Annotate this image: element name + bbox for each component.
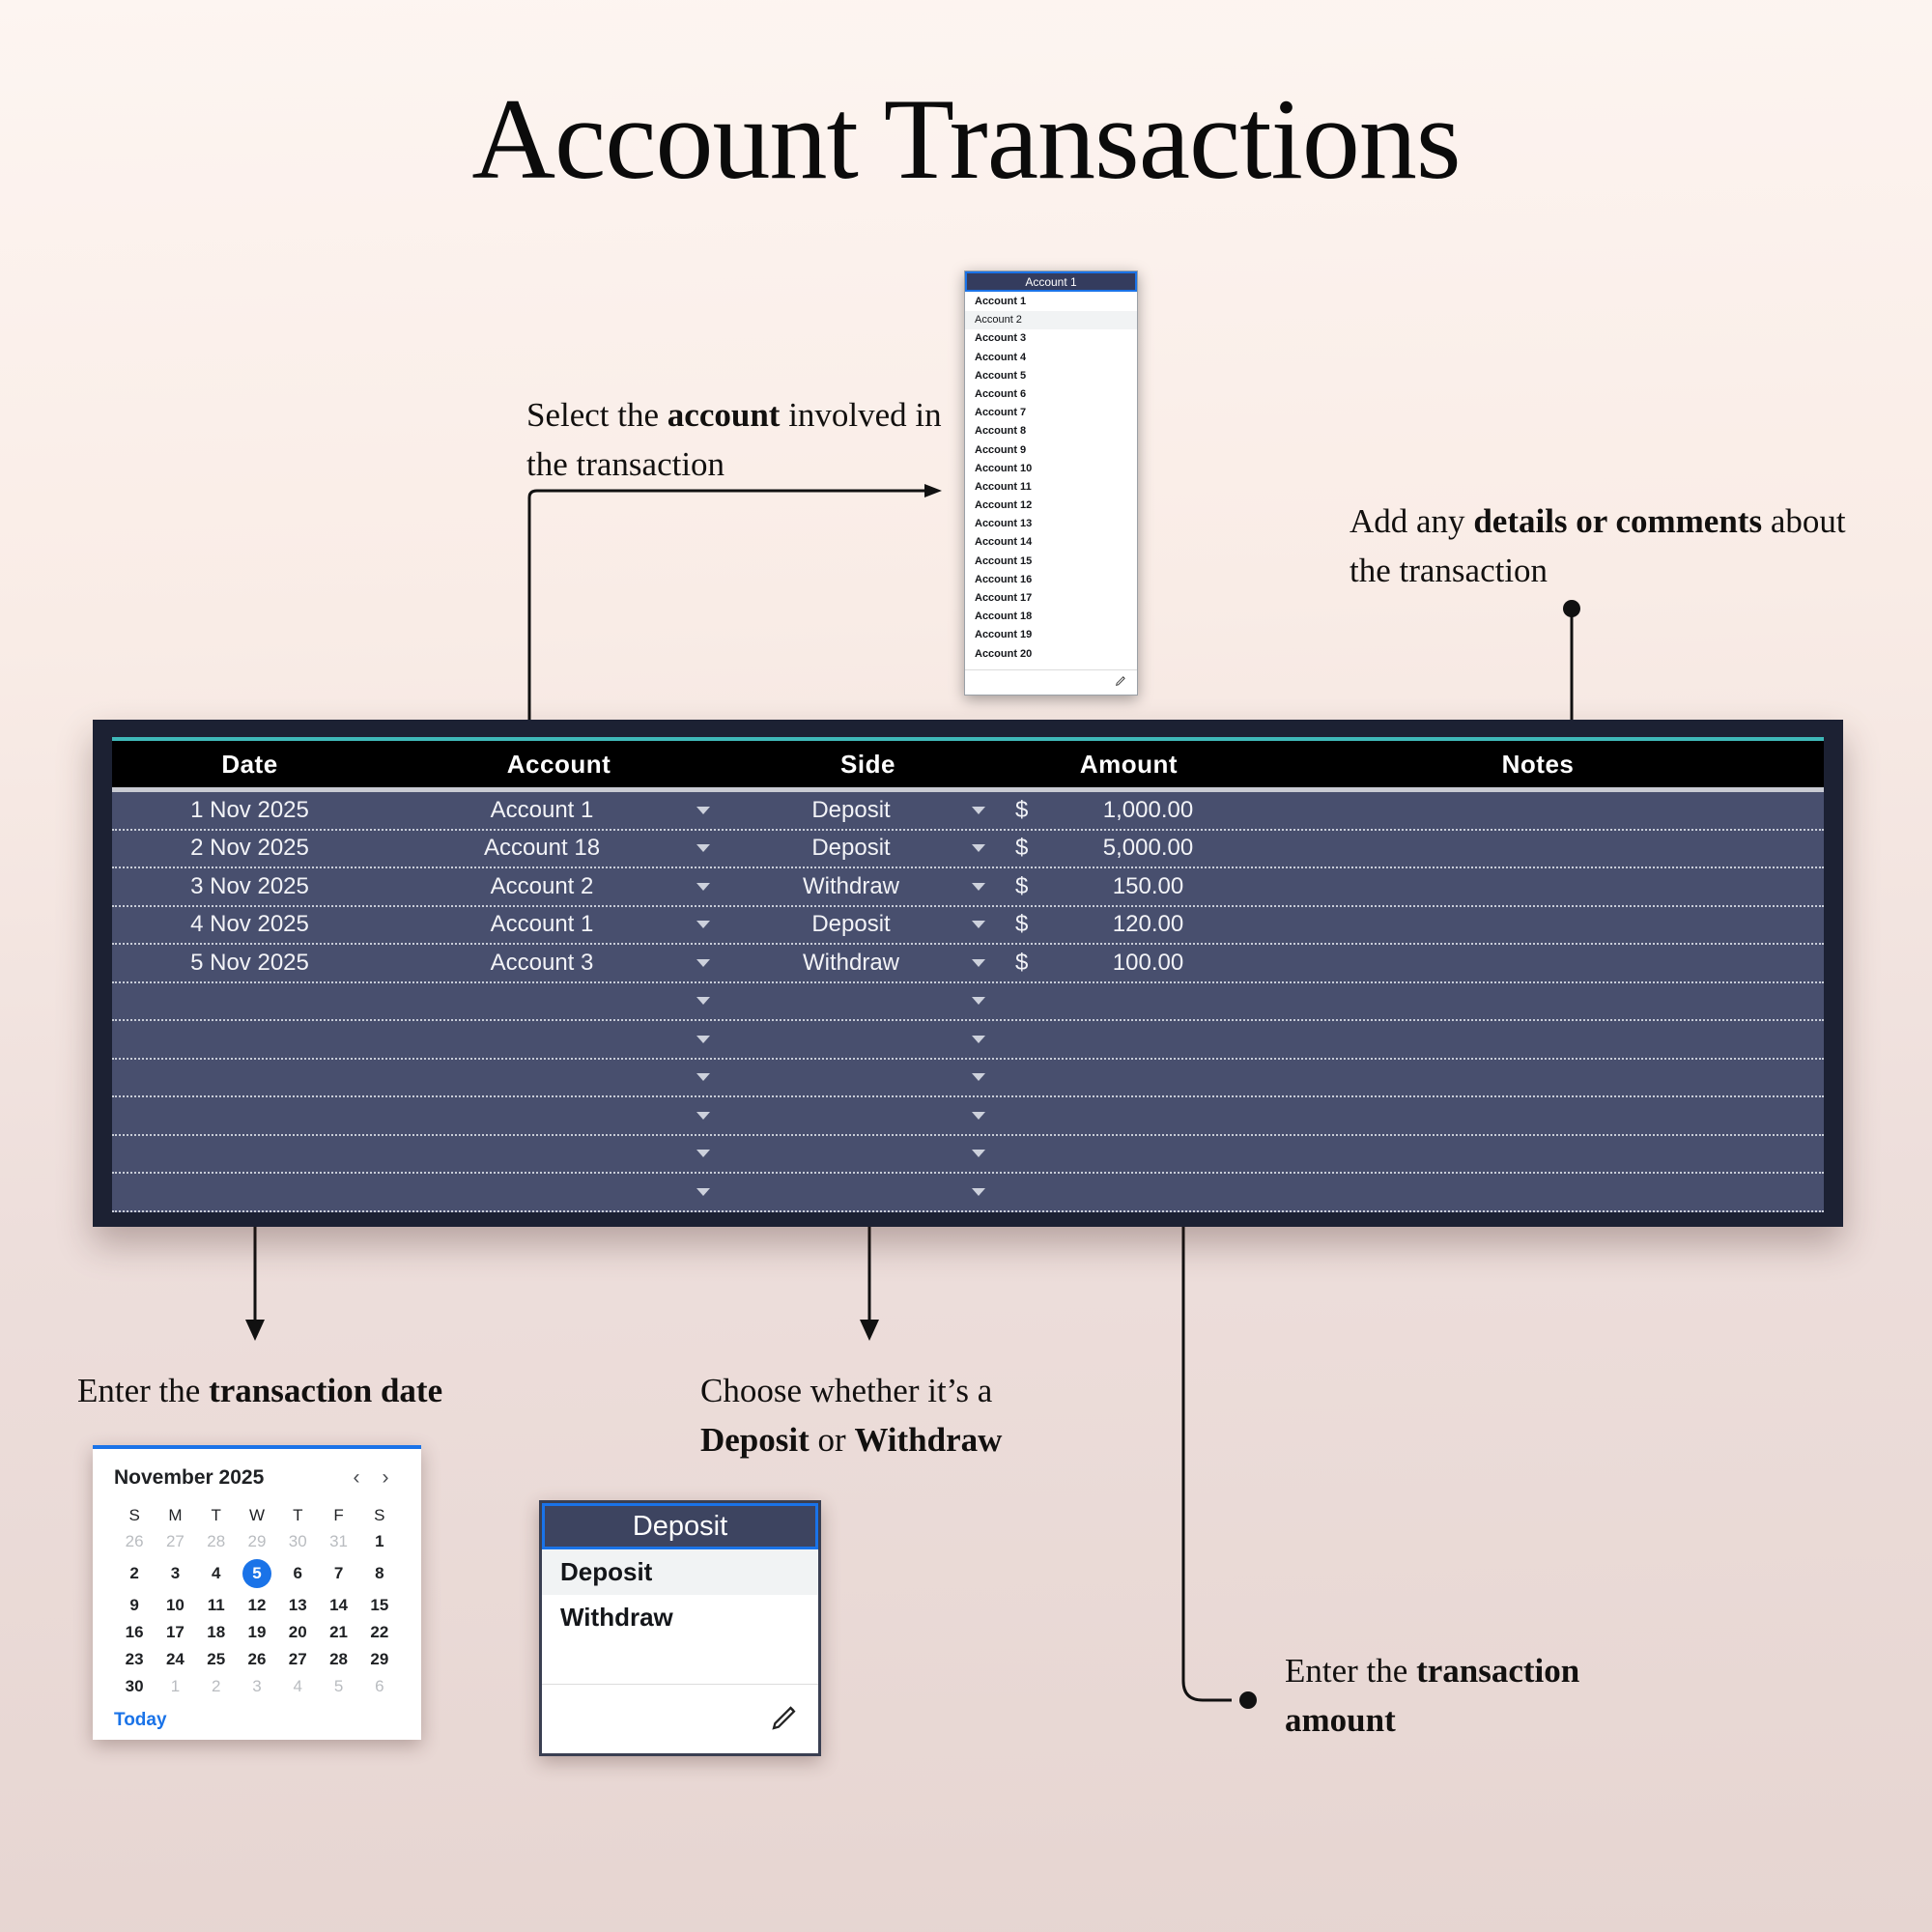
pencil-icon[interactable] xyxy=(770,1701,801,1737)
side-dropdown-button[interactable] xyxy=(972,792,1006,829)
calendar-day[interactable]: 5 xyxy=(318,1673,358,1700)
chevron-down-icon[interactable] xyxy=(696,1112,710,1120)
cell-notes[interactable] xyxy=(1252,1136,1824,1173)
cell-date[interactable] xyxy=(112,1021,387,1058)
annotation-date-bold: transaction date xyxy=(209,1372,442,1409)
calendar-day[interactable]: 27 xyxy=(155,1528,195,1555)
pencil-icon[interactable] xyxy=(1115,674,1127,692)
cell-account[interactable]: Account 1 xyxy=(387,792,696,829)
annotation-amount: Enter the transaction amount xyxy=(1285,1647,1671,1746)
calendar-week-row: 23242526272829 xyxy=(114,1646,400,1673)
annotation-side-bold: Deposit xyxy=(700,1421,810,1459)
account-dropdown-button[interactable] xyxy=(696,1060,730,1096)
side-dropdown-button[interactable] xyxy=(972,1136,1006,1173)
calendar-week-row: 9101112131415 xyxy=(114,1592,400,1619)
account-option[interactable]: Account 5 xyxy=(965,367,1137,385)
cell-amount[interactable] xyxy=(1044,1174,1252,1210)
annotation-side-mid: or xyxy=(810,1421,855,1459)
cell-amount[interactable] xyxy=(1044,1097,1252,1134)
cell-currency: $ xyxy=(1006,907,1044,944)
table-row[interactable] xyxy=(112,983,1824,1022)
calendar-header: November 2025 ‹ › xyxy=(114,1466,400,1490)
calendar-weekday: T xyxy=(196,1503,237,1528)
cell-account[interactable] xyxy=(387,1174,696,1210)
table-body[interactable]: 1 Nov 2025Account 1Deposit$1,000.002 Nov… xyxy=(112,792,1824,1212)
account-dropdown-button[interactable] xyxy=(696,792,730,829)
account-dropdown-button[interactable] xyxy=(696,1097,730,1134)
chevron-down-icon[interactable] xyxy=(972,959,985,967)
cell-side[interactable] xyxy=(730,1021,972,1058)
cell-side[interactable] xyxy=(730,983,972,1020)
cell-side[interactable]: Deposit xyxy=(730,831,972,867)
calendar-week-row: 16171819202122 xyxy=(114,1619,400,1646)
account-option[interactable]: Account 1 xyxy=(965,293,1137,311)
cell-account[interactable] xyxy=(387,1021,696,1058)
cell-currency xyxy=(1006,1021,1044,1058)
chevron-left-icon[interactable]: ‹ xyxy=(342,1466,371,1490)
chevron-down-icon[interactable] xyxy=(696,921,710,928)
account-option[interactable]: Account 4 xyxy=(965,349,1137,367)
calendar-week-row: 30123456 xyxy=(114,1673,400,1700)
calendar-day[interactable]: 1 xyxy=(155,1673,195,1700)
account-option[interactable]: Account 8 xyxy=(965,422,1137,440)
calendar-day[interactable]: 2 xyxy=(114,1555,155,1592)
annotation-side-bold2: Withdraw xyxy=(854,1421,1002,1459)
table-row[interactable] xyxy=(112,1097,1824,1136)
calendar-today-button[interactable]: Today xyxy=(114,1710,400,1731)
account-option[interactable]: Account 16 xyxy=(965,571,1137,589)
calendar-day[interactable]: 26 xyxy=(237,1646,277,1673)
calendar-day[interactable]: 27 xyxy=(277,1646,318,1673)
column-header-date: Date xyxy=(112,741,387,787)
column-header-amount: Amount xyxy=(1006,741,1252,787)
account-option[interactable]: Account 19 xyxy=(965,626,1137,644)
table-row[interactable]: 4 Nov 2025Account 1Deposit$120.00 xyxy=(112,907,1824,946)
table-row[interactable]: 3 Nov 2025Account 2Withdraw$150.00 xyxy=(112,868,1824,907)
calendar-day[interactable]: 25 xyxy=(196,1646,237,1673)
annotation-notes: Add any details or comments about the tr… xyxy=(1350,497,1852,596)
cell-date[interactable]: 2 Nov 2025 xyxy=(112,831,387,867)
annotation-account: Select the account involved in the trans… xyxy=(526,391,971,490)
date-picker-calendar[interactable]: November 2025 ‹ › SMTWTFS 26272829303112… xyxy=(93,1445,421,1740)
calendar-day[interactable]: 13 xyxy=(277,1592,318,1619)
calendar-day[interactable]: 6 xyxy=(277,1555,318,1592)
calendar-day[interactable]: 29 xyxy=(359,1646,400,1673)
account-dropdown-selected[interactable]: Account 1 xyxy=(965,271,1137,292)
account-dropdown-button[interactable] xyxy=(696,831,730,867)
account-option[interactable]: Account 17 xyxy=(965,589,1137,608)
calendar-day[interactable]: 21 xyxy=(318,1619,358,1646)
chevron-down-icon[interactable] xyxy=(696,1150,710,1157)
cell-side[interactable]: Withdraw xyxy=(730,868,972,905)
calendar-day[interactable]: 4 xyxy=(196,1555,237,1592)
account-option[interactable]: Account 6 xyxy=(965,385,1137,404)
side-dropdown-popup[interactable]: Deposit DepositWithdraw xyxy=(539,1500,821,1756)
cell-amount[interactable]: 120.00 xyxy=(1044,907,1252,944)
cell-notes[interactable] xyxy=(1252,1174,1824,1210)
calendar-day[interactable]: 28 xyxy=(196,1528,237,1555)
annotation-account-bold: account xyxy=(668,396,781,434)
transactions-spreadsheet[interactable]: DateAccountSideAmountNotes 1 Nov 2025Acc… xyxy=(93,720,1843,1227)
cell-currency xyxy=(1006,983,1044,1020)
account-option[interactable]: Account 3 xyxy=(965,329,1137,348)
calendar-day[interactable]: 30 xyxy=(114,1673,155,1700)
cell-date[interactable]: 4 Nov 2025 xyxy=(112,907,387,944)
calendar-weekday: M xyxy=(155,1503,195,1528)
cell-amount[interactable] xyxy=(1044,983,1252,1020)
cell-date[interactable] xyxy=(112,1097,387,1134)
cell-account[interactable]: Account 1 xyxy=(387,907,696,944)
column-header-notes: Notes xyxy=(1252,741,1824,787)
cell-currency: $ xyxy=(1006,945,1044,981)
cell-side[interactable] xyxy=(730,1097,972,1134)
cell-notes[interactable] xyxy=(1252,831,1824,867)
chevron-down-icon[interactable] xyxy=(972,883,985,891)
cell-date[interactable]: 1 Nov 2025 xyxy=(112,792,387,829)
cell-side[interactable] xyxy=(730,1060,972,1096)
side-dropdown-list[interactable]: DepositWithdraw xyxy=(542,1549,818,1640)
account-dropdown-button[interactable] xyxy=(696,868,730,905)
chevron-down-icon[interactable] xyxy=(696,807,710,814)
chevron-down-icon[interactable] xyxy=(972,807,985,814)
table-row[interactable]: 5 Nov 2025Account 3Withdraw$100.00 xyxy=(112,945,1824,983)
chevron-down-icon[interactable] xyxy=(972,1036,985,1043)
cell-account[interactable]: Account 18 xyxy=(387,831,696,867)
cell-notes[interactable] xyxy=(1252,868,1824,905)
cell-account[interactable]: Account 3 xyxy=(387,945,696,981)
annotation-date-pre: Enter the xyxy=(77,1372,209,1409)
cell-currency: $ xyxy=(1006,792,1044,829)
annotation-side-pre: Choose whether it’s a xyxy=(700,1372,992,1409)
account-dropdown-button[interactable] xyxy=(696,1174,730,1210)
cell-currency xyxy=(1006,1060,1044,1096)
chevron-down-icon[interactable] xyxy=(972,1073,985,1081)
cell-date[interactable] xyxy=(112,1060,387,1096)
calendar-day[interactable]: 26 xyxy=(114,1528,155,1555)
side-dropdown-button[interactable] xyxy=(972,983,1006,1020)
cell-currency: $ xyxy=(1006,868,1044,905)
side-option[interactable]: Withdraw xyxy=(542,1595,818,1640)
side-dropdown-footer xyxy=(542,1684,818,1753)
annotation-notes-bold: details or comments xyxy=(1473,502,1762,540)
cell-notes[interactable] xyxy=(1252,1060,1824,1096)
annotation-date: Enter the transaction date xyxy=(77,1367,580,1416)
table-row[interactable] xyxy=(112,1174,1824,1212)
chevron-down-icon[interactable] xyxy=(696,959,710,967)
side-dropdown-button[interactable] xyxy=(972,831,1006,867)
cell-amount[interactable]: 1,000.00 xyxy=(1044,792,1252,829)
cell-notes[interactable] xyxy=(1252,1097,1824,1134)
cell-side[interactable] xyxy=(730,1174,972,1210)
chevron-down-icon[interactable] xyxy=(972,921,985,928)
calendar-week-row: 2627282930311 xyxy=(114,1528,400,1555)
calendar-weekday: T xyxy=(277,1503,318,1528)
account-option[interactable]: Account 10 xyxy=(965,460,1137,478)
calendar-day[interactable]: 12 xyxy=(237,1592,277,1619)
calendar-day[interactable]: 10 xyxy=(155,1592,195,1619)
cell-side[interactable]: Withdraw xyxy=(730,945,972,981)
cell-account[interactable] xyxy=(387,1060,696,1096)
calendar-weekday: S xyxy=(359,1503,400,1528)
calendar-day-rows[interactable]: 2627282930311234567891011121314151617181… xyxy=(114,1528,400,1700)
calendar-day[interactable]: 3 xyxy=(155,1555,195,1592)
cell-date[interactable] xyxy=(112,1136,387,1173)
calendar-weekday: W xyxy=(237,1503,277,1528)
calendar-day[interactable]: 3 xyxy=(237,1673,277,1700)
chevron-down-icon[interactable] xyxy=(972,1112,985,1120)
cell-side[interactable]: Deposit xyxy=(730,792,972,829)
cell-notes[interactable] xyxy=(1252,1021,1824,1058)
calendar-day[interactable]: 17 xyxy=(155,1619,195,1646)
cell-currency xyxy=(1006,1097,1044,1134)
account-option[interactable]: Account 14 xyxy=(965,533,1137,552)
account-option[interactable]: Account 13 xyxy=(965,515,1137,533)
chevron-down-icon[interactable] xyxy=(972,997,985,1005)
calendar-day[interactable]: 4 xyxy=(277,1673,318,1700)
account-dropdown-button[interactable] xyxy=(696,907,730,944)
table-row[interactable] xyxy=(112,1136,1824,1175)
cell-amount[interactable] xyxy=(1044,1136,1252,1173)
calendar-grid[interactable]: SMTWTFS 26272829303112345678910111213141… xyxy=(114,1503,400,1700)
column-header-side: Side xyxy=(730,741,1006,787)
side-option[interactable]: Deposit xyxy=(542,1549,818,1595)
page-title: Account Transactions xyxy=(0,72,1932,206)
cell-amount[interactable]: 5,000.00 xyxy=(1044,831,1252,867)
calendar-day[interactable]: 19 xyxy=(237,1619,277,1646)
cell-account[interactable] xyxy=(387,983,696,1020)
chevron-down-icon[interactable] xyxy=(696,844,710,852)
calendar-week-row: 2345678 xyxy=(114,1555,400,1592)
cell-notes[interactable] xyxy=(1252,792,1824,829)
calendar-day[interactable]: 18 xyxy=(196,1619,237,1646)
cell-account[interactable] xyxy=(387,1136,696,1173)
calendar-day[interactable]: 2 xyxy=(196,1673,237,1700)
calendar-day[interactable]: 14 xyxy=(318,1592,358,1619)
account-dropdown-popup[interactable]: Account 1 Account 1Account 2Account 3Acc… xyxy=(964,270,1138,696)
account-option[interactable]: Account 7 xyxy=(965,404,1137,422)
calendar-selected-day[interactable]: 5 xyxy=(242,1559,271,1588)
cell-amount[interactable] xyxy=(1044,1021,1252,1058)
calendar-day[interactable]: 9 xyxy=(114,1592,155,1619)
calendar-weekday-row: SMTWTFS xyxy=(114,1503,400,1528)
table-row[interactable]: 2 Nov 2025Account 18Deposit$5,000.00 xyxy=(112,831,1824,869)
calendar-day[interactable]: 24 xyxy=(155,1646,195,1673)
chevron-down-icon[interactable] xyxy=(972,1150,985,1157)
annotation-amount-pre: Enter the xyxy=(1285,1652,1416,1690)
side-dropdown-button[interactable] xyxy=(972,1060,1006,1096)
side-dropdown-selected[interactable]: Deposit xyxy=(542,1503,818,1549)
calendar-day[interactable]: 22 xyxy=(359,1619,400,1646)
calendar-day[interactable]: 30 xyxy=(277,1528,318,1555)
chevron-down-icon[interactable] xyxy=(696,883,710,891)
chevron-down-icon[interactable] xyxy=(972,1188,985,1196)
cell-date[interactable] xyxy=(112,1174,387,1210)
calendar-day[interactable]: 8 xyxy=(359,1555,400,1592)
annotation-notes-pre: Add any xyxy=(1350,502,1473,540)
account-dropdown-button[interactable] xyxy=(696,983,730,1020)
side-dropdown-button[interactable] xyxy=(972,868,1006,905)
table-row[interactable]: 1 Nov 2025Account 1Deposit$1,000.00 xyxy=(112,792,1824,831)
table-row[interactable] xyxy=(112,1060,1824,1098)
account-option[interactable]: Account 2 xyxy=(965,311,1137,329)
cell-currency xyxy=(1006,1174,1044,1210)
calendar-day[interactable]: 7 xyxy=(318,1555,358,1592)
annotation-account-pre: Select the xyxy=(526,396,668,434)
cell-currency: $ xyxy=(1006,831,1044,867)
account-option[interactable]: Account 12 xyxy=(965,497,1137,515)
calendar-day[interactable]: 16 xyxy=(114,1619,155,1646)
account-option[interactable]: Account 11 xyxy=(965,478,1137,497)
calendar-day[interactable]: 1 xyxy=(359,1528,400,1555)
chevron-down-icon[interactable] xyxy=(696,1073,710,1081)
account-option[interactable]: Account 9 xyxy=(965,441,1137,460)
calendar-day[interactable]: 28 xyxy=(318,1646,358,1673)
side-dropdown-button[interactable] xyxy=(972,1174,1006,1210)
cell-currency xyxy=(1006,1136,1044,1173)
cell-date[interactable]: 3 Nov 2025 xyxy=(112,868,387,905)
calendar-day[interactable]: 5 xyxy=(237,1555,277,1592)
account-option[interactable]: Account 20 xyxy=(965,645,1137,664)
calendar-weekday: S xyxy=(114,1503,155,1528)
cell-side[interactable]: Deposit xyxy=(730,907,972,944)
account-dropdown-button[interactable] xyxy=(696,1136,730,1173)
cell-amount[interactable] xyxy=(1044,1060,1252,1096)
calendar-day[interactable]: 11 xyxy=(196,1592,237,1619)
chevron-down-icon[interactable] xyxy=(972,844,985,852)
account-option[interactable]: Account 15 xyxy=(965,553,1137,571)
account-option[interactable]: Account 18 xyxy=(965,608,1137,626)
table-row[interactable] xyxy=(112,1021,1824,1060)
account-dropdown-button[interactable] xyxy=(696,1021,730,1058)
calendar-month-label: November 2025 xyxy=(114,1466,342,1490)
account-dropdown-button[interactable] xyxy=(696,945,730,981)
chevron-down-icon[interactable] xyxy=(696,1188,710,1196)
chevron-down-icon[interactable] xyxy=(696,997,710,1005)
side-dropdown-button[interactable] xyxy=(972,945,1006,981)
annotation-side: Choose whether it’s a Deposit or Withdra… xyxy=(700,1367,1087,1465)
cell-date[interactable]: 5 Nov 2025 xyxy=(112,945,387,981)
side-dropdown-button[interactable] xyxy=(972,1097,1006,1134)
cell-notes[interactable] xyxy=(1252,945,1824,981)
cell-amount[interactable]: 100.00 xyxy=(1044,945,1252,981)
calendar-day[interactable]: 31 xyxy=(318,1528,358,1555)
calendar-day[interactable]: 6 xyxy=(359,1673,400,1700)
calendar-day[interactable]: 20 xyxy=(277,1619,318,1646)
cell-side[interactable] xyxy=(730,1136,972,1173)
side-dropdown-button[interactable] xyxy=(972,907,1006,944)
chevron-down-icon[interactable] xyxy=(696,1036,710,1043)
cell-amount[interactable]: 150.00 xyxy=(1044,868,1252,905)
calendar-day[interactable]: 29 xyxy=(237,1528,277,1555)
side-dropdown-button[interactable] xyxy=(972,1021,1006,1058)
cell-account[interactable] xyxy=(387,1097,696,1134)
cell-notes[interactable] xyxy=(1252,907,1824,944)
calendar-weekday: F xyxy=(318,1503,358,1528)
chevron-right-icon[interactable]: › xyxy=(371,1466,400,1490)
calendar-day[interactable]: 23 xyxy=(114,1646,155,1673)
account-dropdown-list[interactable]: Account 1Account 2Account 3Account 4Acco… xyxy=(965,292,1137,664)
cell-date[interactable] xyxy=(112,983,387,1020)
cell-account[interactable]: Account 2 xyxy=(387,868,696,905)
cell-notes[interactable] xyxy=(1252,983,1824,1020)
calendar-day[interactable]: 15 xyxy=(359,1592,400,1619)
account-dropdown-footer xyxy=(965,669,1137,695)
table-header-row: DateAccountSideAmountNotes xyxy=(112,741,1824,787)
column-header-account: Account xyxy=(387,741,730,787)
